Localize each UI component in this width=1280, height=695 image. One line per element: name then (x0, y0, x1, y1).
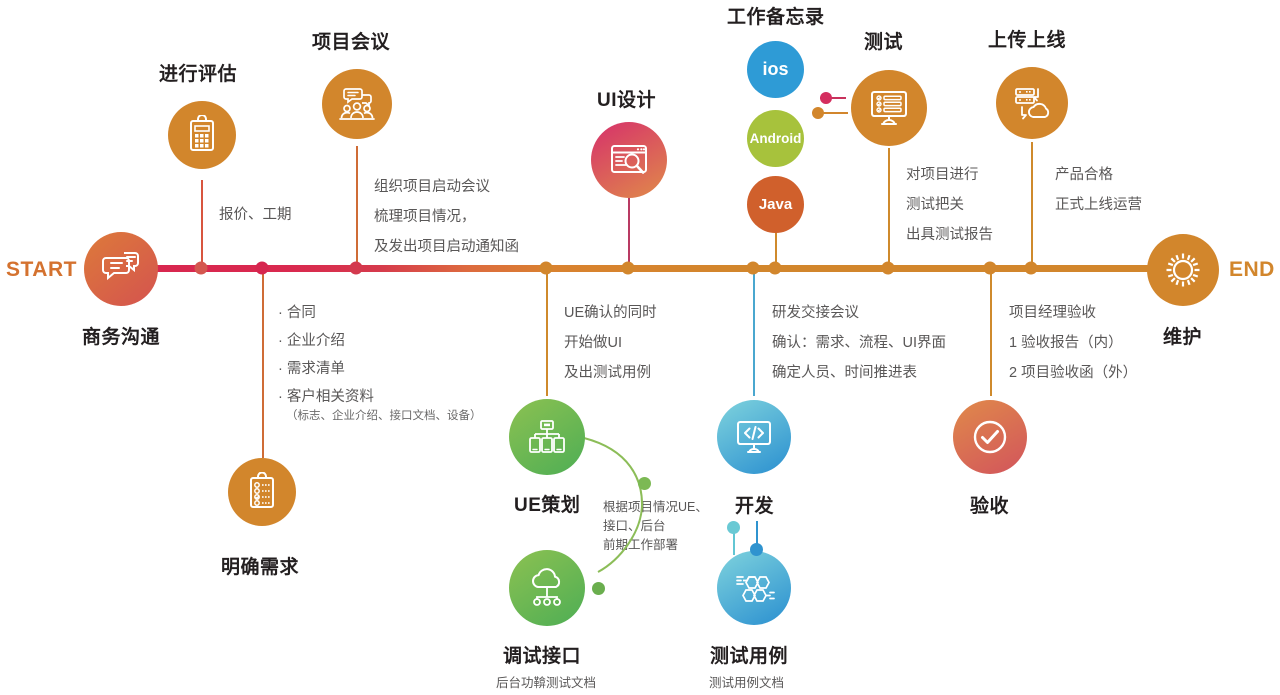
milestone-circle-business[interactable] (84, 232, 158, 306)
milestone-circle-requirements[interactable] (228, 458, 296, 526)
milestone-label-maintenance: 维护 (1163, 322, 1202, 349)
milestone-label-memo: 工作备忘录 (727, 2, 825, 29)
gear-icon (1160, 247, 1206, 293)
memo-connector-dot-bottom (812, 107, 824, 119)
meeting-people-icon (337, 85, 377, 123)
axis-dot-acceptance (984, 262, 997, 275)
note-kickoff-1: 梳理项目情况， (374, 202, 476, 232)
stem-kickoff (356, 146, 358, 268)
clipboard-checklist-icon (245, 472, 279, 512)
stem-testing (888, 148, 890, 268)
platform-java[interactable]: Java (747, 176, 804, 233)
green-connector-dot-top (638, 477, 651, 490)
axis-dot-requirements (256, 262, 269, 275)
stem-ui (628, 198, 630, 268)
chat-bubbles-icon (100, 248, 142, 290)
note-testing-0: 对项目进行 (906, 160, 979, 190)
milestone-label-development: 开发 (735, 491, 774, 518)
note-requirements-1: · 企业介绍 (278, 326, 345, 356)
blue-connector-dot-right (750, 543, 763, 556)
note-testing-1: 测试把关 (906, 190, 964, 220)
note-kickoff-0: 组织项目启动会议 (374, 172, 490, 202)
axis-dot-testing (882, 262, 895, 275)
note-requirements-2: · 需求清单 (278, 354, 345, 384)
note-evaluation-0: 报价、工期 (219, 200, 292, 230)
check-circle-icon (968, 415, 1012, 459)
milestone-label-ue-planning: UE策划 (514, 490, 580, 517)
stem-evaluation (201, 180, 203, 268)
memo-connector-dot-top (820, 92, 832, 104)
cloud-network-icon (525, 567, 569, 609)
platform-java-label: Java (759, 196, 792, 213)
note-ui-design-0: UE确认的同时 (564, 298, 657, 328)
flow-diagram: START END 商务沟通 进行评估 报价、工期 (0, 0, 1280, 695)
green-connector-dot-bottom (592, 582, 605, 595)
milestone-label-requirements: 明确需求 (221, 552, 299, 579)
milestone-label-testing: 测试 (864, 27, 903, 54)
monitor-checklist-icon (867, 88, 911, 128)
note-debug-interface-sub: 后台功鞥测试文档 (496, 673, 596, 693)
platform-android[interactable]: Android (747, 110, 804, 167)
note-memo-1: 确认：需求、流程、UI界面 (772, 328, 946, 358)
axis-dot-memo (769, 262, 782, 275)
note-requirements-0: · 合同 (278, 298, 316, 328)
blue-connector-dot-left (727, 521, 740, 534)
platform-ios[interactable]: ios (747, 41, 804, 98)
note-test-cases-sub: 测试用例文档 (709, 673, 784, 693)
note-acceptance-2: 2 项目验收函（外） (1009, 358, 1137, 388)
stem-ue (546, 268, 548, 396)
milestone-circle-development[interactable] (717, 400, 791, 474)
stem-requirements (262, 268, 264, 458)
note-acceptance-0: 项目经理验收 (1009, 298, 1096, 328)
platform-android-label: Android (750, 131, 802, 146)
axis-dot-dev (747, 262, 760, 275)
milestone-label-deploy: 上传上线 (988, 25, 1066, 52)
milestone-label-kickoff: 项目会议 (312, 27, 390, 54)
axis-dot-ui (622, 262, 635, 275)
milestone-circle-ui-design[interactable] (591, 122, 667, 198)
milestone-circle-deploy[interactable] (996, 67, 1068, 139)
milestone-circle-ue-planning[interactable] (509, 399, 585, 475)
milestone-label-acceptance: 验收 (970, 491, 1009, 518)
note-ui-design-2: 及出测试用例 (564, 358, 651, 388)
note-deploy-0: 产品合格 (1055, 160, 1113, 190)
stem-deploy (1031, 142, 1033, 268)
note-acceptance-1: 1 验收报告（内） (1009, 328, 1123, 358)
stem-acceptance (990, 268, 992, 396)
axis-dot-ue (540, 262, 553, 275)
note-testing-2: 出具测试报告 (906, 220, 993, 250)
milestone-label-business: 商务沟通 (82, 322, 160, 349)
milestone-circle-maintenance[interactable] (1147, 234, 1219, 306)
sitemap-devices-icon (525, 416, 569, 458)
clipboard-calculator-icon (184, 115, 220, 155)
axis-dot-evaluation (195, 262, 208, 275)
monitor-code-icon (733, 417, 775, 457)
end-label: END (1229, 258, 1275, 282)
note-kickoff-2: 及发出项目启动通知函 (374, 232, 519, 262)
milestone-label-ui-design: UI设计 (597, 85, 656, 112)
milestone-circle-test-cases[interactable] (717, 551, 791, 625)
milestone-label-test-cases: 测试用例 (710, 641, 788, 668)
browser-magnifier-icon (607, 139, 651, 181)
server-cloud-upload-icon (1011, 83, 1053, 123)
milestone-circle-evaluation[interactable] (168, 101, 236, 169)
milestone-label-evaluation: 进行评估 (159, 59, 237, 86)
note-ui-design-1: 开始做UI (564, 328, 622, 358)
milestone-circle-debug-interface[interactable] (509, 550, 585, 626)
stem-dev (753, 268, 755, 396)
milestone-circle-testing[interactable] (851, 70, 927, 146)
start-label: START (6, 258, 77, 282)
milestone-circle-kickoff[interactable] (322, 69, 392, 139)
note-memo-0: 研发交接会议 (772, 298, 859, 328)
axis-dot-kickoff (350, 262, 363, 275)
green-connector-curve (580, 420, 670, 600)
platform-ios-label: ios (762, 59, 788, 80)
milestone-label-debug-interface: 调试接口 (503, 641, 581, 668)
axis-dot-deploy (1025, 262, 1038, 275)
note-memo-2: 确定人员、时间推进表 (772, 358, 917, 388)
molecule-icon (732, 568, 776, 608)
note-deploy-1: 正式上线运营 (1055, 190, 1142, 220)
milestone-circle-acceptance[interactable] (953, 400, 1027, 474)
note-requirements-sub: （标志、企业介绍、接口文档、设备） (286, 408, 482, 425)
